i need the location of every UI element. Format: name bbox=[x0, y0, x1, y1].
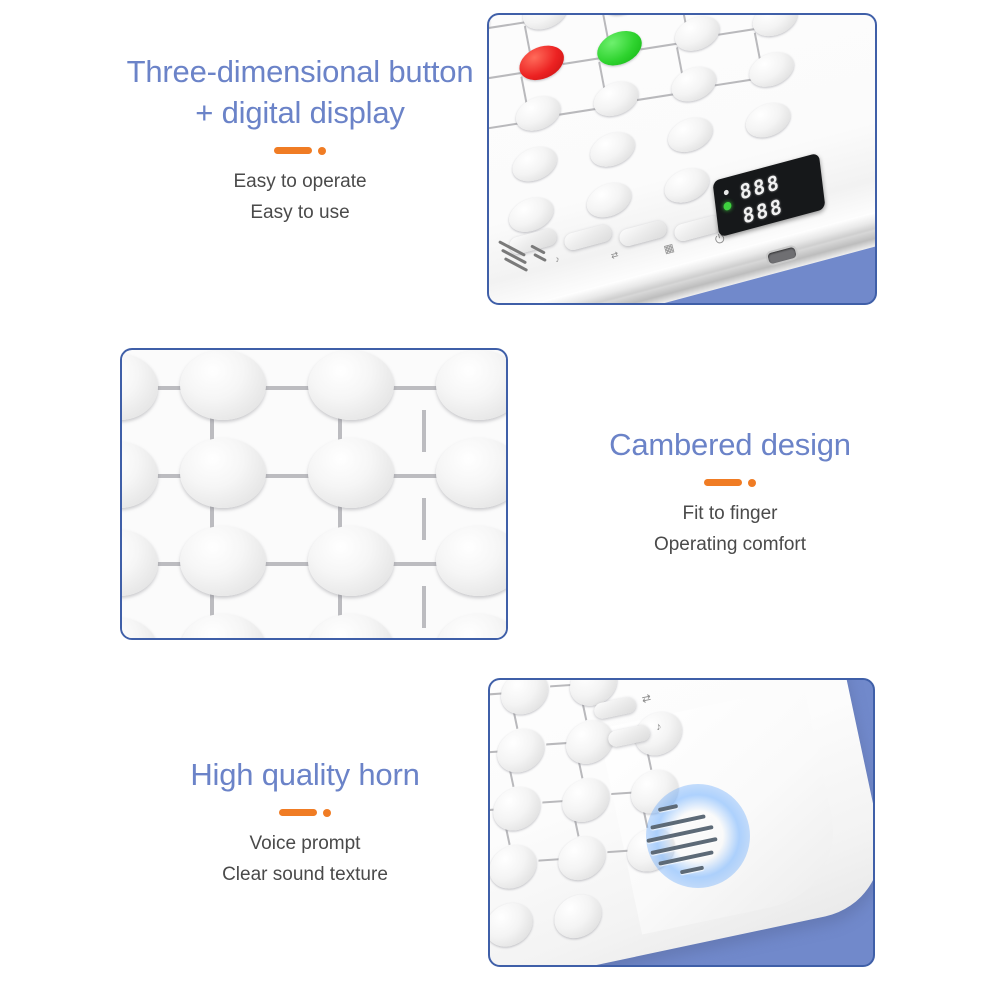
device-key[interactable] bbox=[436, 526, 508, 596]
image-device-corner-with-digital-display: ♪ ⇄ ▦ ⏻ 888 888 bbox=[487, 13, 877, 305]
device-key[interactable] bbox=[180, 350, 266, 420]
section-2-subtitle-2: Operating comfort bbox=[560, 530, 900, 561]
device-key[interactable] bbox=[180, 438, 266, 508]
device-key[interactable] bbox=[436, 614, 508, 640]
divider-dot bbox=[323, 809, 331, 817]
section-1-headline: Three-dimensional button + digital displ… bbox=[110, 52, 490, 134]
device-key[interactable] bbox=[308, 614, 394, 640]
device-key[interactable] bbox=[120, 354, 158, 420]
repeat-icon: ⇄ bbox=[610, 250, 620, 261]
divider-dot bbox=[748, 479, 756, 487]
section-3-subtitle-1: Voice prompt bbox=[130, 829, 480, 860]
display-indicator-green bbox=[723, 201, 732, 211]
image-speaker-grille-highlight: ⇄ ♪ bbox=[488, 678, 875, 967]
section-three-dimensional-button-text: Three-dimensional button + digital displ… bbox=[110, 52, 490, 228]
device-key[interactable] bbox=[436, 350, 508, 420]
divider-bar bbox=[279, 809, 317, 816]
device-key[interactable] bbox=[180, 526, 266, 596]
image-key-grid-macro bbox=[120, 348, 508, 640]
divider-bar bbox=[704, 479, 742, 486]
key-bridge bbox=[422, 410, 426, 452]
device-key[interactable] bbox=[308, 438, 394, 508]
repeat-icon: ⇄ bbox=[641, 693, 652, 706]
section-2-headline: Cambered design bbox=[560, 425, 900, 466]
section-2-divider bbox=[560, 479, 900, 487]
section-high-quality-horn-text: High quality horn Voice prompt Clear sou… bbox=[130, 755, 480, 890]
device-key[interactable] bbox=[120, 530, 158, 596]
device-key[interactable] bbox=[180, 614, 266, 640]
device-key[interactable] bbox=[308, 526, 394, 596]
section-2-subtitle-1: Fit to finger bbox=[560, 499, 900, 530]
section-cambered-design-text: Cambered design Fit to finger Operating … bbox=[560, 425, 900, 560]
device-key[interactable] bbox=[436, 438, 508, 508]
section-3-divider bbox=[130, 809, 480, 817]
display-dot-white bbox=[724, 189, 729, 195]
section-1-subtitle-1: Easy to operate bbox=[110, 167, 490, 198]
section-1-divider bbox=[110, 147, 490, 155]
key-bridge bbox=[422, 586, 426, 628]
section-1-subtitle-2: Easy to use bbox=[110, 198, 490, 229]
section-3-headline: High quality horn bbox=[130, 755, 480, 796]
section-3-subtitle-2: Clear sound texture bbox=[130, 860, 480, 891]
divider-dot bbox=[318, 147, 326, 155]
divider-bar bbox=[274, 147, 312, 154]
device-key[interactable] bbox=[308, 350, 394, 420]
device-key[interactable] bbox=[120, 442, 158, 508]
device-key[interactable] bbox=[120, 618, 158, 640]
device-key-green[interactable] bbox=[487, 55, 488, 99]
key-bridge bbox=[422, 498, 426, 540]
